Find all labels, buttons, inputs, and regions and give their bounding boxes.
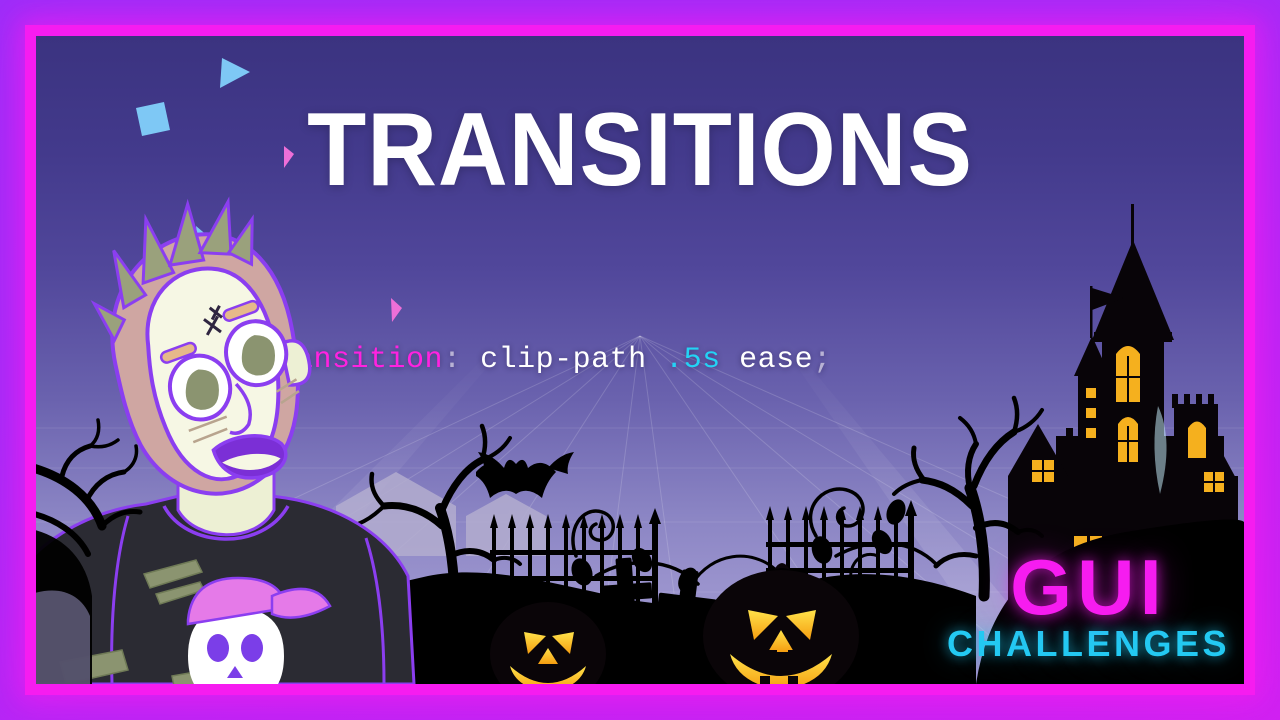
code-easing: ease [739, 343, 813, 377]
code-property: transition [258, 343, 443, 377]
code-snippet: transition: clip-path .5s ease; [258, 343, 832, 377]
forehead-stitches [202, 306, 225, 335]
shirt-skull-logo [188, 578, 330, 684]
video-thumbnail: TRANSITIONS transition: clip-path .5s ea… [0, 0, 1280, 720]
dead-tree-left [358, 426, 520, 616]
ghost-wisp [1154, 406, 1166, 494]
gravestone-cross-a [584, 558, 668, 650]
jack-o-lantern-right [318, 632, 414, 684]
brand-logo: GUI CHALLENGES [947, 552, 1230, 662]
confetti-triangle-icon [196, 226, 222, 264]
jack-o-lantern-center [703, 563, 859, 684]
jack-o-lantern-left [490, 602, 606, 684]
distant-graves [336, 472, 546, 556]
scene-canvas: TRANSITIONS transition: clip-path .5s ea… [36, 36, 1244, 684]
code-duration: .5s [665, 343, 721, 377]
confetti-triangle-icon [220, 58, 250, 88]
ground [36, 572, 976, 684]
confetti-sliver-icon [391, 298, 402, 322]
code-value: clip-path [480, 343, 647, 377]
thorn-vines [568, 489, 936, 596]
bat [476, 452, 574, 498]
iron-fence-left [490, 508, 661, 608]
iron-fence-right [766, 500, 917, 594]
gravestone-cross-b [640, 569, 732, 666]
code-semicolon: ; [813, 343, 832, 377]
code-colon: : [443, 343, 462, 377]
page-title: TRANSITIONS [78, 98, 1201, 202]
logo-line-challenges: CHALLENGES [947, 626, 1230, 662]
logo-line-gui: GUI [944, 552, 1233, 624]
gold-cross [358, 580, 390, 622]
character-shirt [36, 466, 414, 684]
